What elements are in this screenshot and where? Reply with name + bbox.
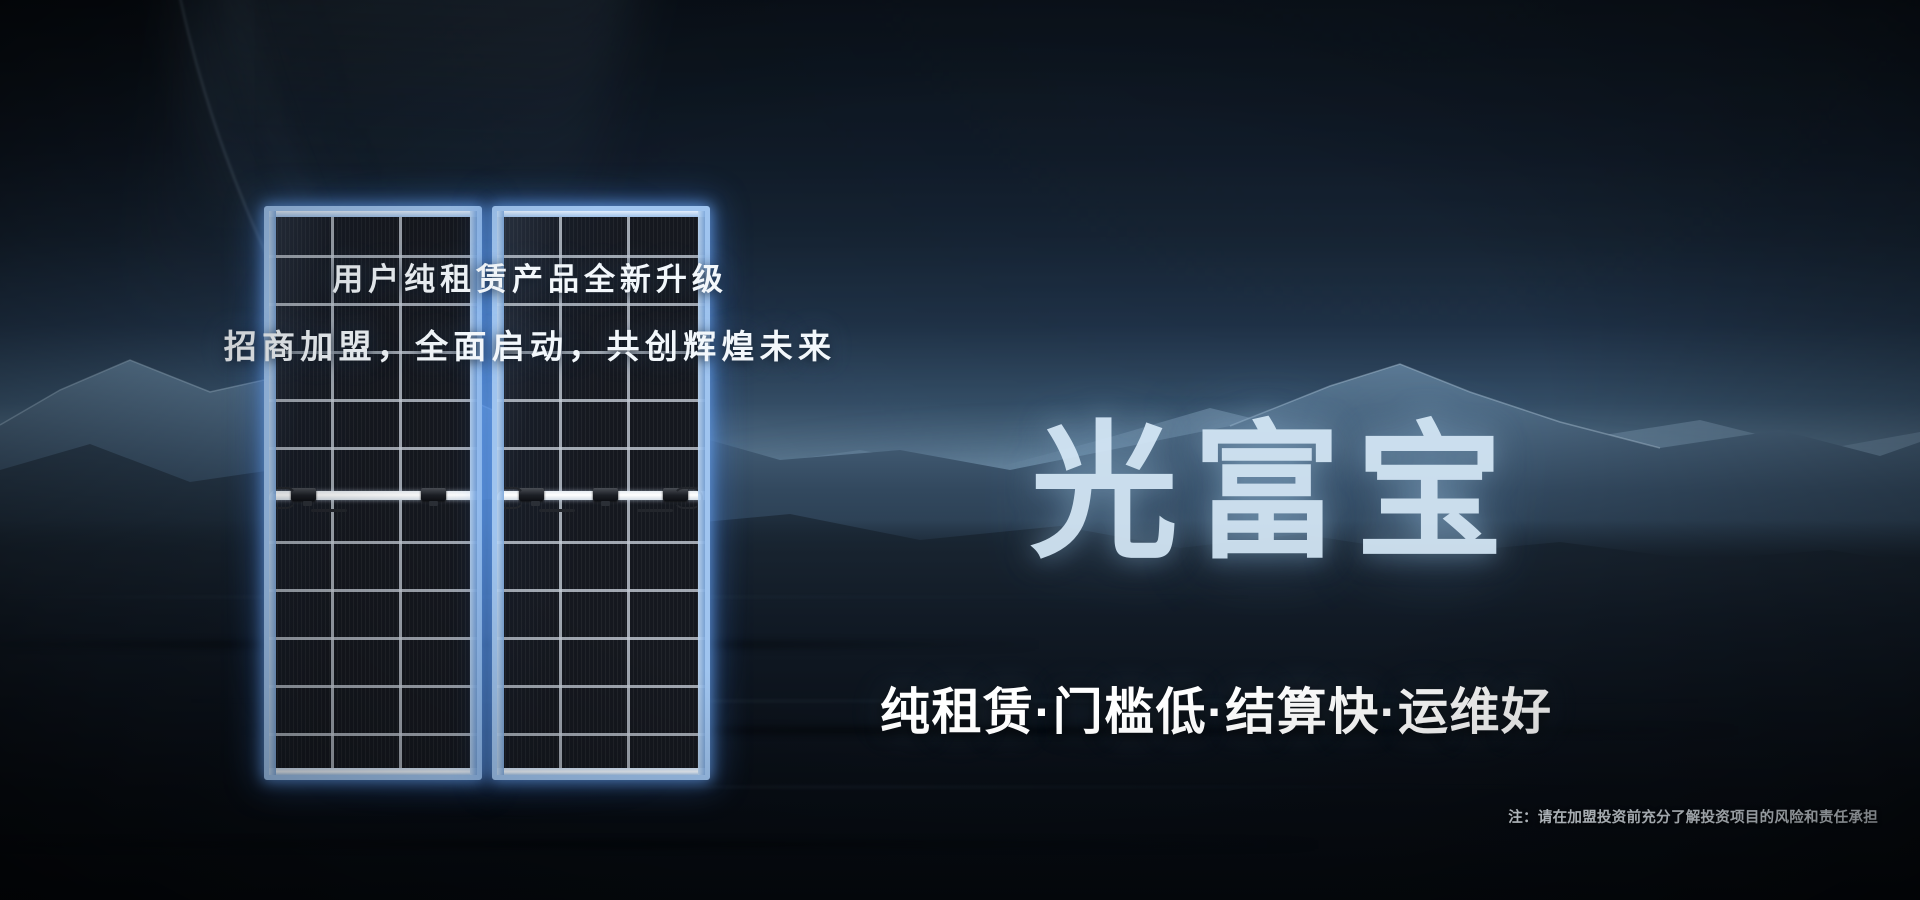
- junction-stub: [531, 501, 540, 506]
- headline-line-1: 用户纯租赁产品全新升级: [210, 254, 850, 299]
- cable-tail: [539, 509, 575, 512]
- promo-banner: 用户纯租赁产品全新升级 招商加盟，全面启动，共创辉煌未来 光富宝 纯租赁·门槛低…: [0, 0, 1920, 900]
- cable-tail: [311, 509, 347, 512]
- frame-rail-bottom: [497, 768, 705, 775]
- junction-stub: [429, 501, 438, 506]
- cable-tail: [637, 509, 673, 512]
- disclaimer-note: 注：请在加盟投资前充分了解投资项目的风险和责任承担: [1218, 806, 1878, 827]
- junction-box: [421, 488, 446, 501]
- junction-box: [593, 488, 618, 501]
- headline-line-2: 招商加盟，全面启动，共创辉煌未来: [80, 320, 980, 368]
- junction-stub: [303, 501, 312, 506]
- brand-title: 光富宝: [1030, 420, 1650, 568]
- tagline: 纯租赁·门槛低·结算快·运维好: [880, 672, 1780, 744]
- frame-rail-top: [269, 211, 477, 217]
- junction-stub: [601, 501, 610, 506]
- frame-rail-top: [497, 211, 705, 217]
- frame-rail-bottom: [269, 768, 477, 775]
